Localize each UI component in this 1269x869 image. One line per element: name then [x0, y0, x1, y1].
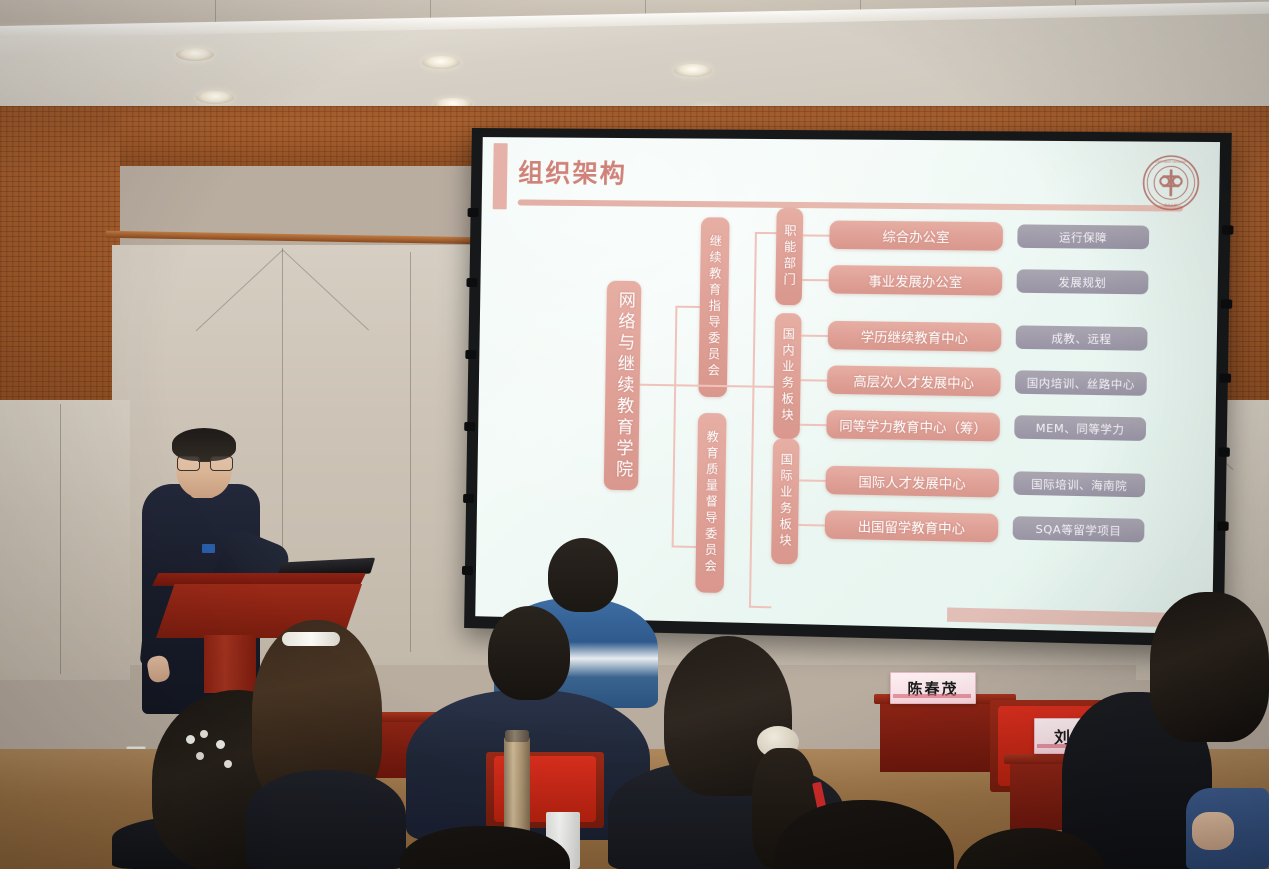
downlight-icon — [176, 48, 214, 61]
attendee-hand — [1192, 812, 1234, 850]
hair-pin — [196, 752, 204, 760]
org-node-division-0: 职能部门 — [775, 208, 803, 305]
title-accent-bar — [493, 143, 508, 209]
org-node-root: 网络与继续教育学院 — [604, 281, 642, 491]
attendee-head — [1150, 592, 1269, 742]
name-placard-0: 陈春茂 — [890, 672, 976, 704]
org-note-3: 国内培训、丝路中心 — [1015, 370, 1147, 396]
title-divider-rule — [518, 199, 1183, 211]
hair-clip — [282, 632, 340, 646]
svg-text:西北大学: 西北大学 — [1164, 202, 1177, 207]
acoustic-panel-wall-left — [0, 400, 130, 680]
org-node-committee-0: 继续教育指导委员会 — [698, 217, 729, 397]
org-node-division-1: 国内业务板块 — [773, 313, 802, 439]
org-node-committee-1: 教育质量督导委员会 — [695, 413, 726, 593]
org-node-unit-3: 高层次人才发展中心 — [827, 365, 1001, 396]
org-note-5: 国际培训、海南院 — [1013, 471, 1145, 497]
eyeglasses-icon — [177, 456, 231, 469]
org-node-unit-1: 事业发展办公室 — [829, 265, 1003, 296]
org-node-division-2: 国际业务板块 — [771, 438, 800, 564]
org-note-2: 成教、远程 — [1016, 325, 1148, 350]
org-node-unit-0: 综合办公室 — [829, 221, 1003, 251]
downlight-icon — [674, 64, 712, 77]
org-node-unit-4: 同等学力教育中心（筹） — [826, 410, 1000, 441]
attendee-head — [488, 606, 570, 700]
svg-text:NORTHWEST UNIVERSITY: NORTHWEST UNIVERSITY — [1154, 160, 1189, 164]
university-seal-logo: NORTHWEST UNIVERSITY 西北大学 — [1141, 154, 1201, 212]
org-note-0: 运行保障 — [1017, 224, 1149, 249]
thermos-bottle — [504, 736, 530, 840]
org-node-unit-2: 学历继续教育中心 — [828, 321, 1002, 352]
wood-wall-panel-left — [0, 106, 120, 406]
org-note-4: MEM、同等学力 — [1014, 415, 1146, 441]
hair-pin — [216, 740, 225, 749]
downlight-icon — [422, 56, 460, 69]
speaker-badge — [202, 544, 215, 553]
org-note-1: 发展规划 — [1017, 269, 1149, 294]
org-note-6: SQA等留学项目 — [1013, 516, 1145, 542]
attendee-head — [548, 538, 618, 612]
conference-room-photo: 组织架构 NORTHWEST UNIVERSITY 西北大学 网络与继续教育学院 — [0, 0, 1269, 869]
slide-footer-bar — [947, 607, 1189, 627]
attendee-long-hair-body — [246, 770, 406, 869]
org-node-unit-6: 出国留学教育中心 — [825, 510, 999, 542]
slide-title: 组织架构 — [518, 153, 627, 190]
hair-pin — [224, 760, 232, 768]
hair-pin — [200, 730, 208, 738]
downlight-icon — [196, 91, 234, 104]
org-node-unit-5: 国际人才发展中心 — [825, 466, 999, 498]
hair-pin — [186, 735, 195, 744]
